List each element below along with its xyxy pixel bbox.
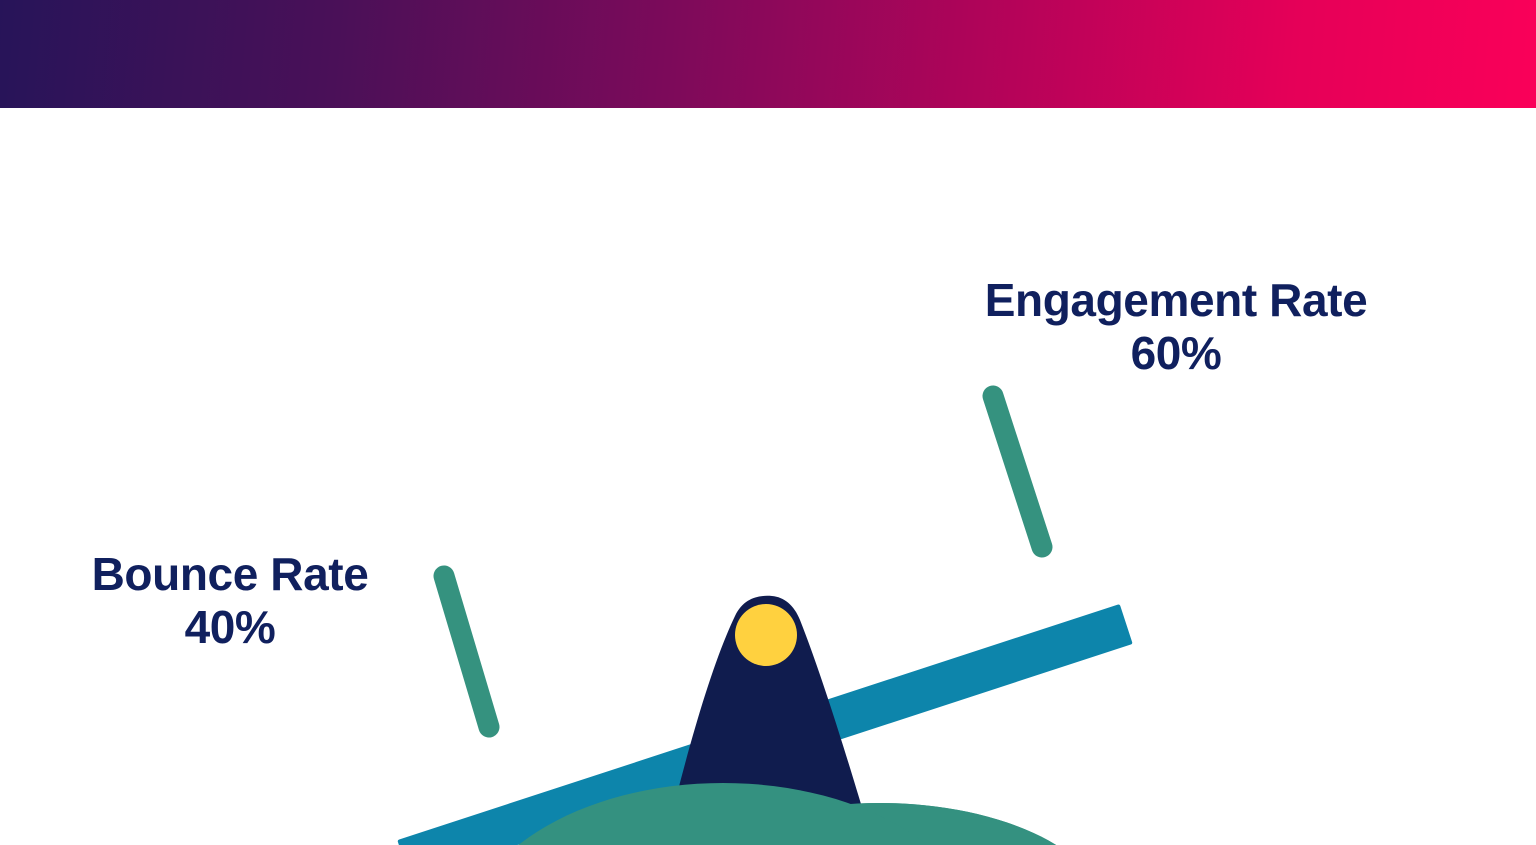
metric-value-bounce-rate: 40% [52, 601, 408, 654]
right-weight-rod-icon [993, 396, 1042, 547]
metric-value-engagement-rate: 60% [920, 327, 1432, 380]
pivot-circle-icon [735, 604, 797, 666]
metric-label-engagement-rate: Engagement Rate 60% [920, 274, 1432, 381]
metric-label-bounce-rate: Bounce Rate 40% [52, 548, 408, 655]
metric-name-bounce-rate: Bounce Rate [52, 548, 408, 601]
metric-name-engagement-rate: Engagement Rate [920, 274, 1432, 327]
left-weight-rod-icon [444, 576, 489, 727]
header-gradient-band [0, 0, 1536, 108]
seesaw-illustration [0, 108, 1536, 845]
